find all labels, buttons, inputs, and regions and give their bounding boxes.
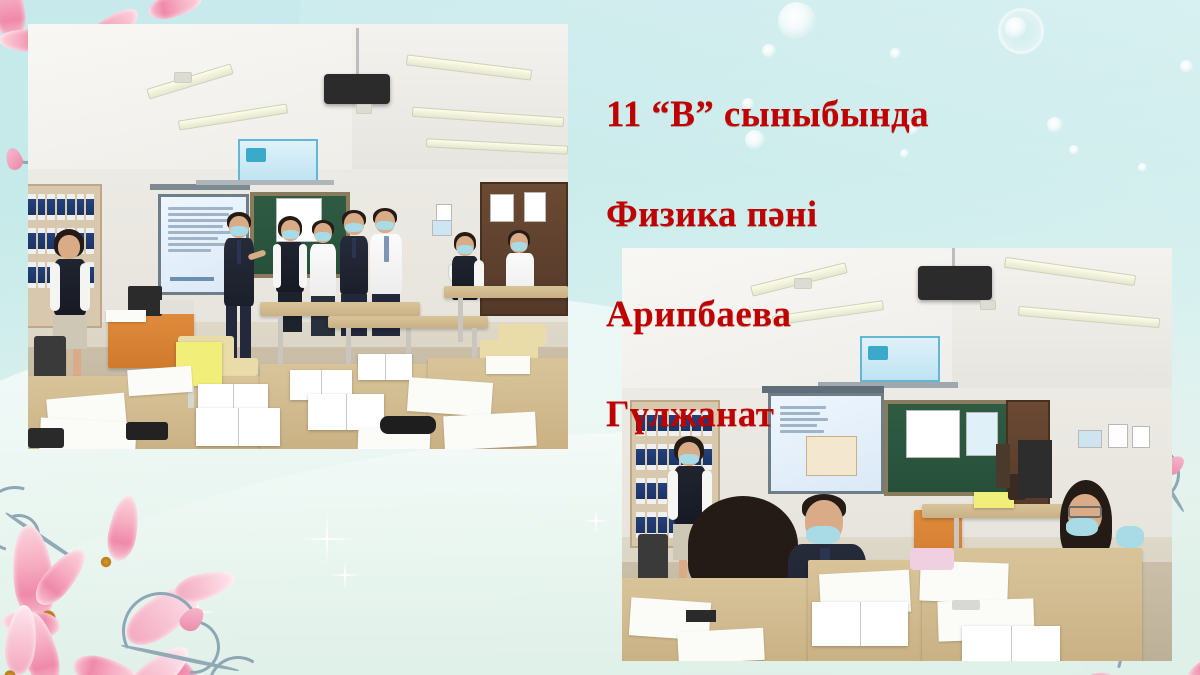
open-textbook xyxy=(962,626,1060,661)
classroom-presentation-photo xyxy=(28,24,568,449)
open-textbook xyxy=(358,354,412,380)
open-textbook xyxy=(308,394,384,430)
presentation-slide: 11 “В” сыныбында Физика пәні Арипбаева Г… xyxy=(0,0,1200,675)
title-line-2: Физика пәні xyxy=(606,190,1166,240)
slide-title: 11 “В” сыныбында Физика пәні Арипбаева Г… xyxy=(606,40,1166,490)
open-textbook xyxy=(812,602,908,646)
open-textbook xyxy=(196,408,280,446)
ceiling-projector xyxy=(324,74,390,104)
title-line-1: 11 “В” сыныбында xyxy=(606,90,1166,140)
classroom-chair xyxy=(498,324,546,346)
title-line-3: Арипбаева xyxy=(606,290,1166,340)
title-line-4: Гүлжанат xyxy=(606,390,1166,440)
wall-poster-kazakhstan xyxy=(238,139,318,183)
